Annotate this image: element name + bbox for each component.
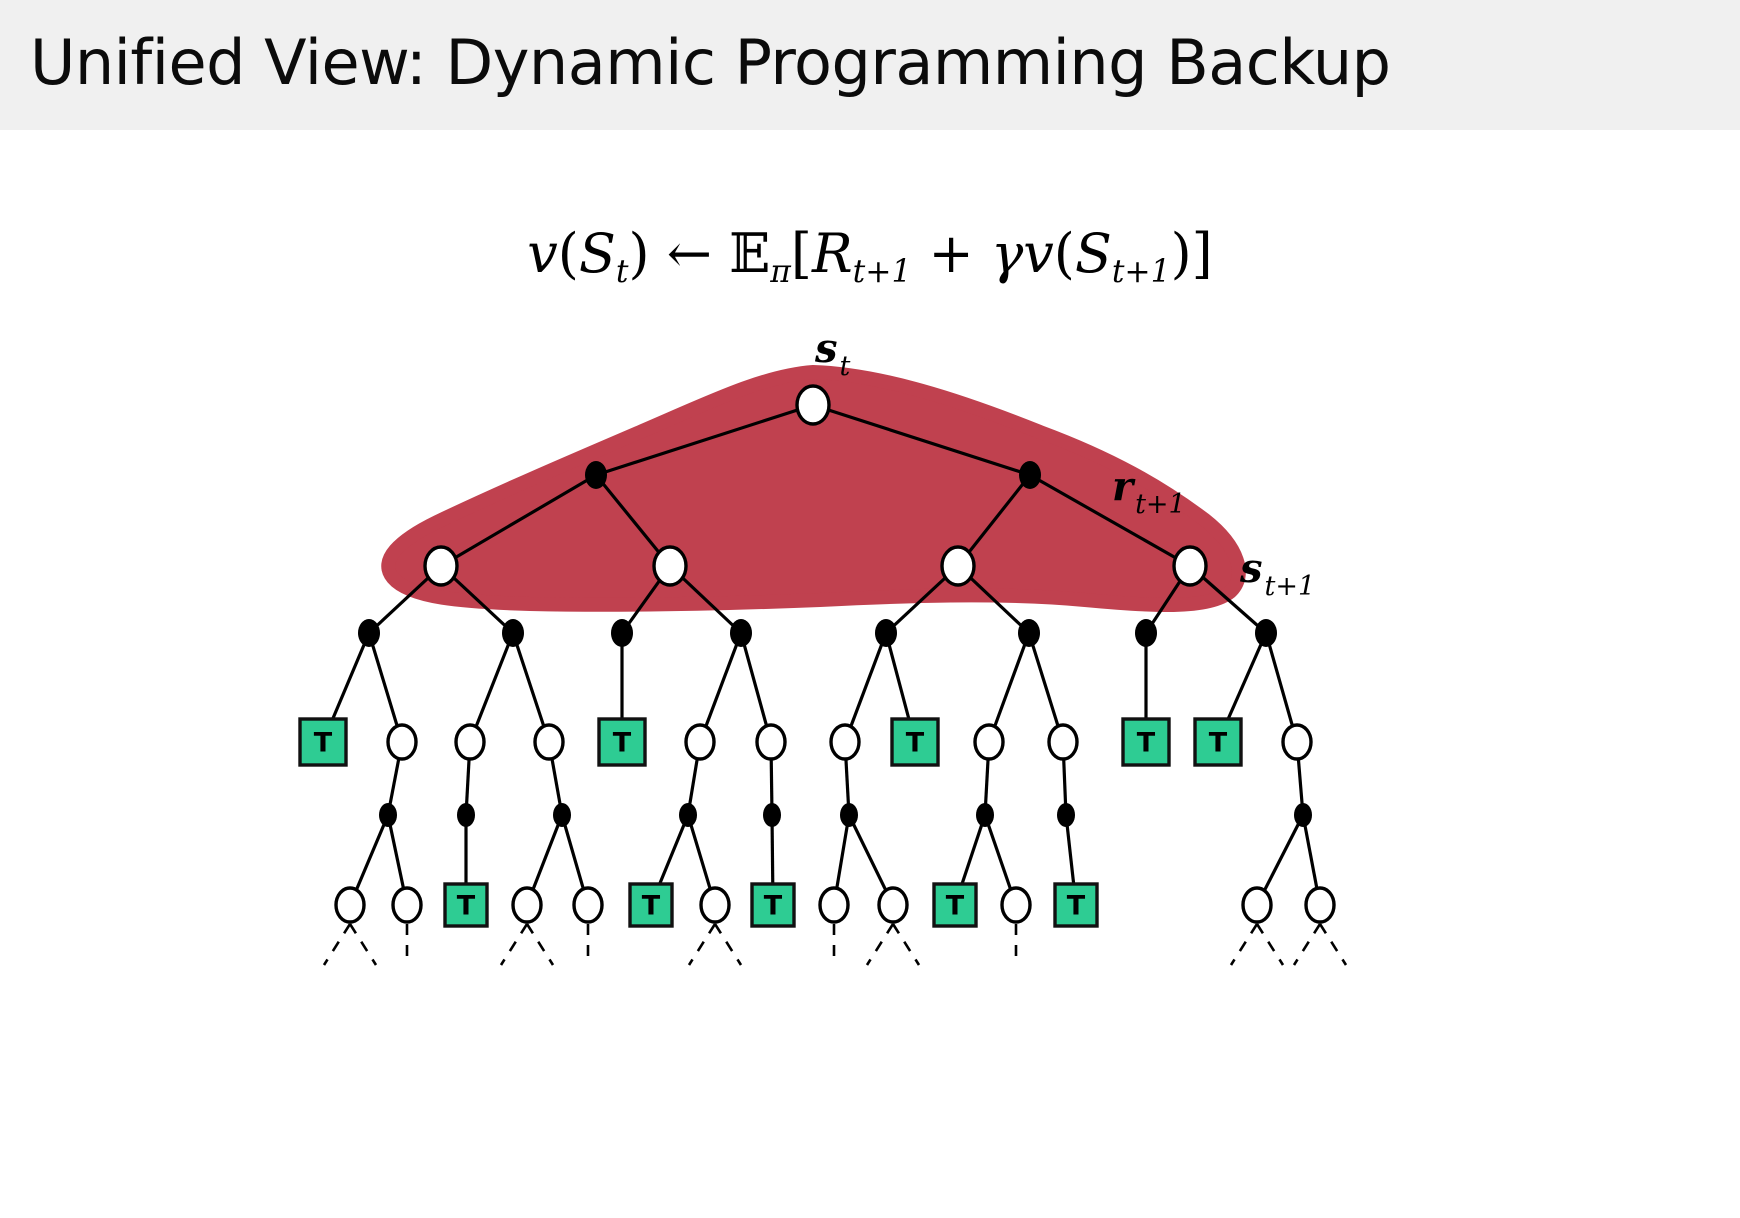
next-state-label: st+1 [1239, 545, 1315, 602]
action-node-l3-1 [457, 803, 475, 827]
state-node-l3-10 [1049, 725, 1077, 759]
state-node-l3-1 [388, 725, 416, 759]
state-node-l3-9 [975, 725, 1003, 759]
tree-edge-dashed [1257, 924, 1283, 965]
state-node-l2-2 [942, 547, 974, 585]
tree-edge-dashed [715, 924, 741, 965]
state-node-l3-7 [831, 725, 859, 759]
state-node-l2-3 [1174, 547, 1206, 585]
state-node-l4-9 [879, 888, 907, 922]
tree-edge-dashed [350, 924, 376, 965]
tree-edge-dashed [867, 924, 893, 965]
state-node-l4-13 [1243, 888, 1271, 922]
terminal-node-l4-10-label: T [946, 891, 965, 922]
state-node-l4-11 [1002, 888, 1030, 922]
action-node-l3-3 [679, 803, 697, 827]
state-node-l3-6 [757, 725, 785, 759]
state-node-l4-6 [701, 888, 729, 922]
tree-edge-dashed [893, 924, 919, 965]
state-node-l2-1 [654, 547, 686, 585]
action-node-l2-7 [1255, 619, 1277, 647]
action-node-l2-1 [502, 619, 524, 647]
tree-edge-dashed [1231, 924, 1257, 965]
action-node-l3-8 [1294, 803, 1312, 827]
action-node-l3-2 [553, 803, 571, 827]
action-node-l2-0 [358, 619, 380, 647]
action-node-l3-5 [840, 803, 858, 827]
action-node-l1-0 [585, 461, 607, 489]
state-node-l4-0 [336, 888, 364, 922]
state-node-l3-3 [535, 725, 563, 759]
slide-root: Unified View: Dynamic Programming Backup… [0, 0, 1740, 1218]
state-node-l2-0 [425, 547, 457, 585]
tree-edge-dashed [527, 924, 553, 965]
action-node-l2-2 [611, 619, 633, 647]
terminal-node-l3-8-label: T [906, 728, 925, 759]
state-node-l4-4 [574, 888, 602, 922]
backup-diagram: TTTTTTTTTT strt+1st+1 [0, 0, 1740, 1218]
action-node-l3-4 [763, 803, 781, 827]
state-node-l4-1 [393, 888, 421, 922]
terminal-node-l3-12-label: T [1209, 728, 1228, 759]
tree-edge-dashed [324, 924, 350, 965]
action-node-l2-6 [1135, 619, 1157, 647]
state-node-l3-5 [686, 725, 714, 759]
action-node-l3-7 [1057, 803, 1075, 827]
terminal-node-l3-4-label: T [613, 728, 632, 759]
state-node-l4-14 [1306, 888, 1334, 922]
tree-edge-dashed [1320, 924, 1346, 965]
action-node-l2-3 [730, 619, 752, 647]
action-node-l1-1 [1019, 461, 1041, 489]
action-node-l2-5 [1018, 619, 1040, 647]
action-node-l3-6 [976, 803, 994, 827]
terminal-node-l3-11-label: T [1137, 728, 1156, 759]
tree-edge-dashed [1294, 924, 1320, 965]
action-node-l2-4 [875, 619, 897, 647]
state-node-l3-13 [1283, 725, 1311, 759]
terminal-node-l4-12-label: T [1067, 891, 1086, 922]
terminal-node-l4-7-label: T [764, 891, 783, 922]
terminal-node-l3-0-label: T [314, 728, 333, 759]
state-node-l4-3 [513, 888, 541, 922]
terminal-node-l4-2-label: T [457, 891, 476, 922]
tree-edge-dashed [501, 924, 527, 965]
state-node-l4-8 [820, 888, 848, 922]
action-node-l3-0 [379, 803, 397, 827]
state-node-l3-2 [456, 725, 484, 759]
terminal-node-l4-5-label: T [642, 891, 661, 922]
tree-edge-dashed [689, 924, 715, 965]
root-state-node [797, 386, 829, 424]
